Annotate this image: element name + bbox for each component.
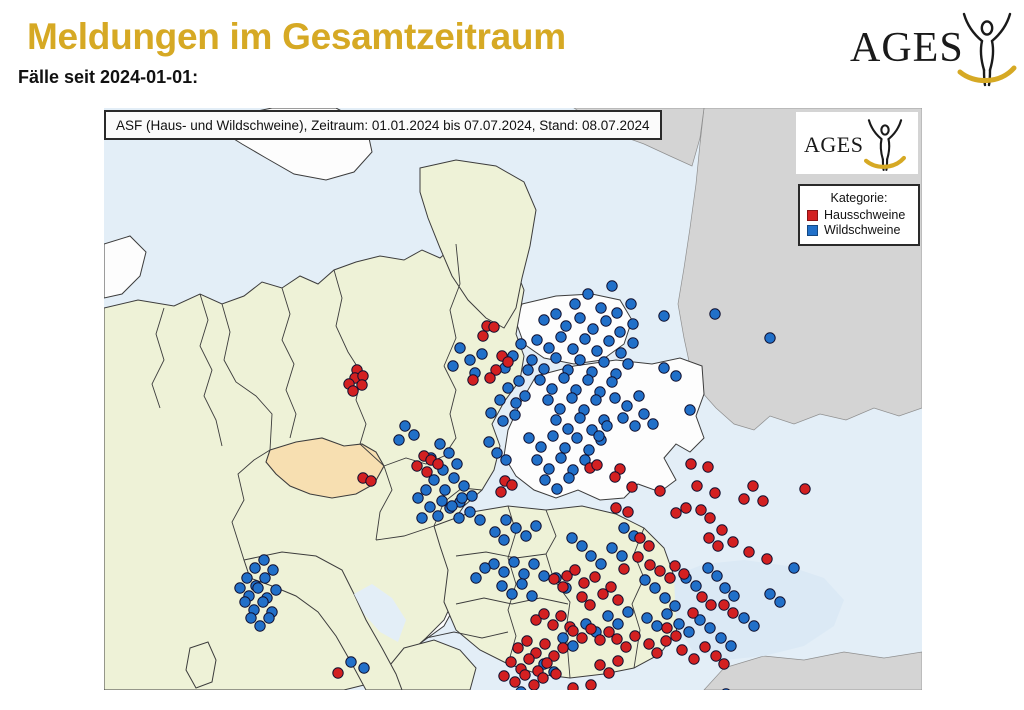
case-marker [496, 487, 506, 497]
case-marker [607, 543, 617, 553]
case-marker [719, 659, 729, 669]
case-marker [586, 551, 596, 561]
case-marker [507, 480, 517, 490]
map-ages-logo: AGES [796, 112, 918, 174]
case-marker [507, 589, 517, 599]
case-marker [585, 600, 595, 610]
case-marker [527, 355, 537, 365]
case-marker [604, 668, 614, 678]
case-marker [549, 574, 559, 584]
case-marker [465, 355, 475, 365]
case-marker [623, 607, 633, 617]
case-marker [623, 507, 633, 517]
case-marker [531, 521, 541, 531]
case-marker [449, 473, 459, 483]
legend-title: Kategorie: [807, 191, 911, 205]
case-marker [480, 563, 490, 573]
case-marker [529, 680, 539, 690]
case-marker [542, 658, 552, 668]
case-marker [697, 592, 707, 602]
case-marker [547, 384, 557, 394]
case-marker [539, 364, 549, 374]
case-marker [544, 464, 554, 474]
case-marker [610, 472, 620, 482]
case-marker [596, 559, 606, 569]
case-marker [523, 365, 533, 375]
case-marker [556, 332, 566, 342]
case-marker [696, 505, 706, 515]
case-marker [513, 643, 523, 653]
case-marker [692, 481, 702, 491]
legend-label-hausschweine: Hausschweine [824, 208, 905, 222]
case-marker [455, 343, 465, 353]
case-marker [590, 572, 600, 582]
page-title: Meldungen im Gesamtzeitraum [27, 16, 566, 58]
case-marker [602, 421, 612, 431]
case-marker [606, 582, 616, 592]
case-marker [577, 541, 587, 551]
case-marker [499, 535, 509, 545]
case-marker [412, 461, 422, 471]
case-marker [246, 613, 256, 623]
case-marker [514, 376, 524, 386]
case-marker [739, 613, 749, 623]
case-marker [613, 656, 623, 666]
case-marker [467, 491, 477, 501]
case-marker [556, 453, 566, 463]
case-marker [536, 442, 546, 452]
case-marker [489, 322, 499, 332]
case-marker [535, 375, 545, 385]
case-marker [703, 563, 713, 573]
case-marker [497, 581, 507, 591]
case-marker [591, 395, 601, 405]
case-marker [719, 600, 729, 610]
map-legend: Kategorie: Hausschweine Wildschweine [798, 184, 920, 246]
case-marker [539, 571, 549, 581]
case-marker [555, 404, 565, 414]
case-marker [492, 448, 502, 458]
case-marker [558, 633, 568, 643]
case-marker [639, 409, 649, 419]
case-marker [454, 513, 464, 523]
case-marker [660, 593, 670, 603]
case-marker [671, 371, 681, 381]
case-marker [577, 633, 587, 643]
case-marker [575, 413, 585, 423]
case-marker [417, 513, 427, 523]
case-marker [559, 373, 569, 383]
case-marker [594, 431, 604, 441]
case-marker [529, 559, 539, 569]
case-marker [568, 641, 578, 651]
case-marker [471, 573, 481, 583]
case-marker [484, 437, 494, 447]
case-marker [670, 601, 680, 611]
case-marker [570, 299, 580, 309]
case-marker [433, 459, 443, 469]
case-marker [607, 281, 617, 291]
case-marker [717, 525, 727, 535]
case-marker [501, 455, 511, 465]
case-marker [527, 591, 537, 601]
case-marker [765, 589, 775, 599]
case-marker [705, 513, 715, 523]
case-marker [601, 316, 611, 326]
case-marker [613, 619, 623, 629]
case-marker [650, 583, 660, 593]
case-marker [748, 481, 758, 491]
case-marker [532, 335, 542, 345]
case-marker [744, 547, 754, 557]
page-subtitle: Fälle seit 2024-01-01: [18, 67, 198, 88]
case-marker [583, 375, 593, 385]
case-marker [710, 488, 720, 498]
case-marker [509, 557, 519, 567]
case-marker [425, 502, 435, 512]
case-marker [511, 523, 521, 533]
case-marker [703, 462, 713, 472]
case-marker [615, 327, 625, 337]
case-marker [357, 380, 367, 390]
case-marker [447, 501, 457, 511]
case-marker [510, 410, 520, 420]
case-marker [749, 621, 759, 631]
case-marker [689, 654, 699, 664]
case-marker [433, 511, 443, 521]
case-marker [635, 533, 645, 543]
case-marker [551, 353, 561, 363]
case-marker [684, 627, 694, 637]
case-marker [503, 357, 513, 367]
case-marker [583, 289, 593, 299]
case-marker [260, 573, 270, 583]
case-marker [524, 654, 534, 664]
case-marker [543, 395, 553, 405]
legend-label-wildschweine: Wildschweine [824, 223, 900, 237]
case-marker [521, 531, 531, 541]
case-marker [604, 336, 614, 346]
map-ages-wordmark: AGES [804, 132, 863, 158]
case-marker [540, 475, 550, 485]
case-marker [511, 398, 521, 408]
case-marker [240, 597, 250, 607]
case-marker [655, 486, 665, 496]
case-marker [264, 613, 274, 623]
case-marker [575, 313, 585, 323]
case-marker [510, 677, 520, 687]
case-marker [652, 648, 662, 658]
case-marker [789, 563, 799, 573]
case-marker [627, 482, 637, 492]
case-marker [716, 633, 726, 643]
case-marker [720, 583, 730, 593]
case-marker [726, 641, 736, 651]
case-marker [532, 455, 542, 465]
case-marker [366, 476, 376, 486]
case-marker [486, 408, 496, 418]
case-marker [409, 430, 419, 440]
case-marker [661, 636, 671, 646]
case-marker [465, 507, 475, 517]
case-marker [499, 671, 509, 681]
case-marker [568, 344, 578, 354]
case-marker [586, 680, 596, 690]
case-marker [739, 494, 749, 504]
case-marker [475, 515, 485, 525]
case-marker [485, 373, 495, 383]
case-marker [652, 621, 662, 631]
case-marker [616, 348, 626, 358]
case-marker [572, 433, 582, 443]
case-marker [478, 331, 488, 341]
case-marker [552, 484, 562, 494]
case-marker [662, 609, 672, 619]
ages-figure-icon [956, 8, 1018, 93]
case-marker [628, 319, 638, 329]
case-marker [435, 439, 445, 449]
case-marker [568, 626, 578, 636]
case-marker [630, 631, 640, 641]
case-marker [626, 299, 636, 309]
case-marker [674, 619, 684, 629]
case-marker [444, 448, 454, 458]
case-marker [522, 636, 532, 646]
case-marker [544, 343, 554, 353]
case-marker [498, 416, 508, 426]
case-marker [644, 541, 654, 551]
case-marker [348, 386, 358, 396]
case-marker [567, 393, 577, 403]
case-marker [250, 563, 260, 573]
case-marker [758, 496, 768, 506]
ages-brand-logo: AGES [848, 8, 1018, 86]
case-marker [440, 485, 450, 495]
case-marker [655, 566, 665, 576]
case-marker [520, 670, 530, 680]
case-marker [394, 435, 404, 445]
legend-swatch-hausschweine [807, 210, 818, 221]
case-marker [710, 309, 720, 319]
case-marker [671, 631, 681, 641]
ages-wordmark: AGES [850, 24, 964, 72]
case-marker [551, 669, 561, 679]
case-marker [271, 585, 281, 595]
case-marker [421, 485, 431, 495]
map-ages-figure-icon [862, 116, 908, 177]
case-marker [659, 363, 669, 373]
case-marker [705, 623, 715, 633]
case-marker [516, 339, 526, 349]
case-marker [729, 591, 739, 601]
case-marker [622, 401, 632, 411]
case-marker [468, 375, 478, 385]
case-marker [700, 642, 710, 652]
case-marker [580, 334, 590, 344]
case-marker [503, 383, 513, 393]
case-marker [586, 624, 596, 634]
map-title-text: ASF (Haus- und Wildschweine), Zeitraum: … [116, 118, 650, 133]
case-marker [706, 600, 716, 610]
case-marker [712, 571, 722, 581]
case-marker [255, 621, 265, 631]
case-marker [612, 308, 622, 318]
case-marker [728, 608, 738, 618]
case-marker [775, 597, 785, 607]
case-marker [617, 551, 627, 561]
case-marker [686, 459, 696, 469]
case-marker [253, 583, 263, 593]
case-marker [619, 523, 629, 533]
case-marker [490, 527, 500, 537]
case-marker [575, 355, 585, 365]
case-marker [561, 321, 571, 331]
case-marker [540, 639, 550, 649]
case-marker [671, 508, 681, 518]
case-marker [563, 424, 573, 434]
legend-item-hausschweine: Hausschweine [807, 208, 911, 222]
case-marker [762, 554, 772, 564]
case-marker [400, 421, 410, 431]
case-marker [588, 324, 598, 334]
case-marker [548, 620, 558, 630]
case-marker [235, 583, 245, 593]
case-marker [517, 579, 527, 589]
case-marker [596, 303, 606, 313]
case-marker [551, 309, 561, 319]
case-marker [448, 361, 458, 371]
case-marker [242, 573, 252, 583]
case-marker [613, 595, 623, 605]
case-marker [603, 611, 613, 621]
case-marker [570, 565, 580, 575]
case-marker [346, 657, 356, 667]
case-marker [618, 413, 628, 423]
case-marker [459, 481, 469, 491]
case-marker [501, 515, 511, 525]
case-marker [524, 433, 534, 443]
case-marker [621, 642, 631, 652]
case-marker [413, 493, 423, 503]
case-marker [645, 560, 655, 570]
case-marker [558, 643, 568, 653]
case-marker [619, 564, 629, 574]
case-marker [677, 645, 687, 655]
case-marker [599, 357, 609, 367]
case-marker [595, 635, 605, 645]
case-marker [662, 623, 672, 633]
case-marker [681, 503, 691, 513]
case-marker [800, 484, 810, 494]
case-marker [457, 493, 467, 503]
case-marker [640, 575, 650, 585]
case-marker [607, 377, 617, 387]
case-marker [556, 611, 566, 621]
case-marker [258, 597, 268, 607]
case-marker [568, 683, 578, 690]
case-marker [679, 569, 689, 579]
case-marker [592, 346, 602, 356]
case-marker [538, 673, 548, 683]
case-marker [728, 537, 738, 547]
case-marker [548, 431, 558, 441]
case-marker [506, 657, 516, 667]
case-marker [685, 405, 695, 415]
case-marker [520, 391, 530, 401]
case-marker [630, 421, 640, 431]
case-marker [623, 359, 633, 369]
case-marker [539, 315, 549, 325]
case-marker [711, 651, 721, 661]
case-marker [359, 663, 369, 673]
case-marker [644, 639, 654, 649]
case-marker [659, 311, 669, 321]
case-marker [648, 419, 658, 429]
map-title-bar: ASF (Haus- und Wildschweine), Zeitraum: … [104, 110, 662, 140]
case-marker [579, 578, 589, 588]
case-marker [477, 349, 487, 359]
case-marker [577, 592, 587, 602]
case-marker [628, 338, 638, 348]
case-marker [610, 393, 620, 403]
case-marker [551, 415, 561, 425]
case-marker [633, 552, 643, 562]
case-marker [611, 503, 621, 513]
legend-swatch-wildschweine [807, 225, 818, 236]
case-marker [670, 561, 680, 571]
case-marker [713, 541, 723, 551]
case-marker [665, 573, 675, 583]
case-marker [704, 533, 714, 543]
case-marker [499, 567, 509, 577]
case-marker [612, 634, 622, 644]
case-marker [564, 473, 574, 483]
case-marker [558, 582, 568, 592]
case-marker [495, 395, 505, 405]
case-marker [595, 660, 605, 670]
case-marker [519, 569, 529, 579]
case-marker [634, 391, 644, 401]
case-marker [452, 459, 462, 469]
case-marker [765, 333, 775, 343]
case-marker [691, 581, 701, 591]
case-marker [567, 533, 577, 543]
case-marker [560, 443, 570, 453]
case-marker [592, 460, 602, 470]
case-marker [422, 467, 432, 477]
case-marker [268, 565, 278, 575]
case-marker [584, 445, 594, 455]
case-marker [688, 608, 698, 618]
case-marker [259, 555, 269, 565]
case-marker [539, 609, 549, 619]
case-marker [642, 613, 652, 623]
case-marker [333, 668, 343, 678]
legend-item-wildschweine: Wildschweine [807, 223, 911, 237]
